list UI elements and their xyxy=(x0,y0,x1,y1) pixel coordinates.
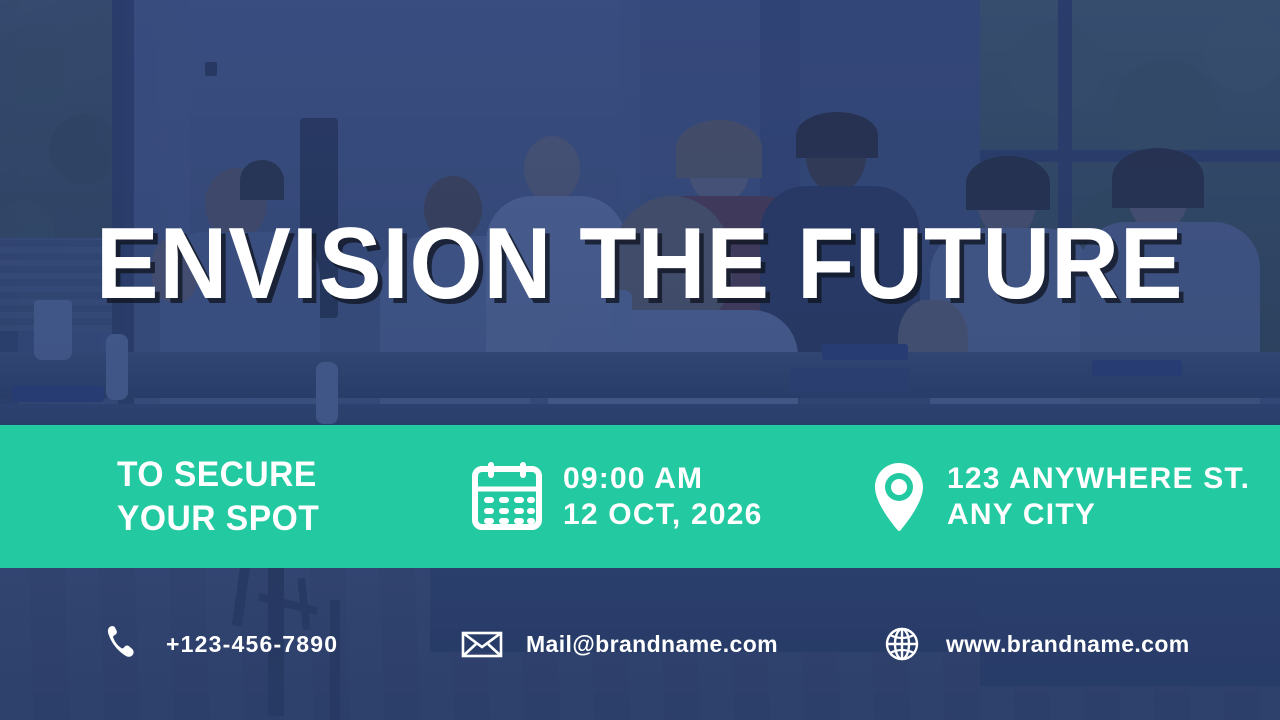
event-date: 12 OCT, 2026 xyxy=(563,497,763,533)
date-time-block: 09:00 AM 12 OCT, 2026 xyxy=(469,461,869,533)
location-block: 123 ANYWHERE ST. ANY CITY xyxy=(869,461,1250,533)
website-url: www.brandname.com xyxy=(946,631,1190,658)
envelope-icon xyxy=(460,622,504,666)
cta-block: TO SECURE YOUR SPOT xyxy=(117,453,469,541)
cta-line-2: YOUR SPOT xyxy=(117,497,319,541)
contact-website[interactable]: www.brandname.com xyxy=(880,622,1190,666)
globe-icon xyxy=(880,622,924,666)
phone-number: +123-456-7890 xyxy=(166,631,338,658)
contact-email[interactable]: Mail@brandname.com xyxy=(460,622,880,666)
cta-line-1: TO SECURE xyxy=(117,453,319,497)
phone-icon xyxy=(100,622,144,666)
calendar-icon xyxy=(469,461,545,533)
contact-phone[interactable]: +123-456-7890 xyxy=(100,622,460,666)
map-pin-icon xyxy=(869,461,929,533)
email-address: Mail@brandname.com xyxy=(526,631,778,658)
contact-footer: +123-456-7890 Mail@brandname.com www.bra… xyxy=(0,568,1280,720)
headline-container: ENVISION THE FUTURE xyxy=(0,214,1280,314)
page-title: ENVISION THE FUTURE xyxy=(96,214,1184,314)
location-line-2: ANY CITY xyxy=(947,497,1250,533)
event-info-band: TO SECURE YOUR SPOT xyxy=(0,425,1280,568)
event-time: 09:00 AM xyxy=(563,461,763,497)
location-line-1: 123 ANYWHERE ST. xyxy=(947,461,1250,497)
event-poster: ENVISION THE FUTURE TO SECURE YOUR SPOT xyxy=(0,0,1280,720)
